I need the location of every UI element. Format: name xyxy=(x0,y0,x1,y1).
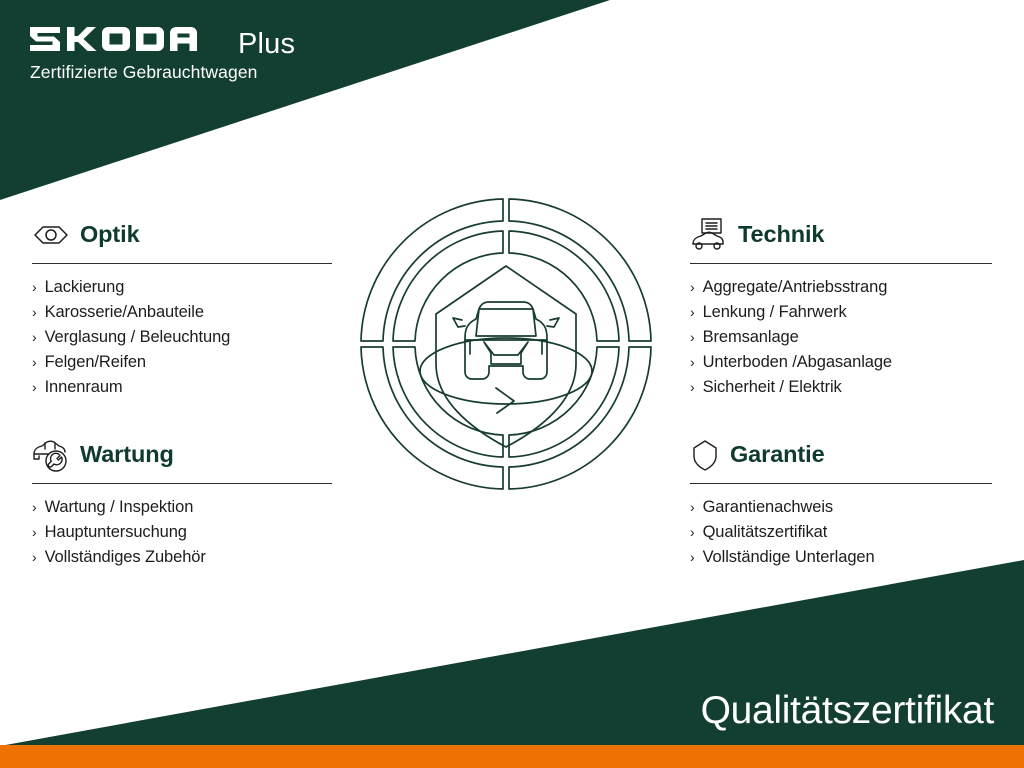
list-item: ›Vollständiges Zubehör xyxy=(32,545,344,570)
brand-subtitle: Zertifizierte Gebrauchtwagen xyxy=(30,63,295,82)
chevron-right-icon: › xyxy=(690,350,695,375)
section-list: ›Lackierung ›Karosserie/Anbauteile ›Verg… xyxy=(32,275,344,400)
eye-icon xyxy=(32,218,70,252)
list-item-label: Sicherheit / Elektrik xyxy=(703,375,842,400)
skoda-wordmark-icon xyxy=(30,24,227,54)
list-item-label: Wartung / Inspektion xyxy=(45,495,194,520)
list-item: ›Innenraum xyxy=(32,375,344,400)
section-title: Technik xyxy=(738,223,824,247)
list-item: ›Bremsanlage xyxy=(690,325,1002,350)
chevron-right-icon: › xyxy=(32,495,37,520)
chevron-right-icon: › xyxy=(690,325,695,350)
list-item-label: Unterboden /Abgasanlage xyxy=(703,350,892,375)
list-item-label: Qualitätszertifikat xyxy=(703,520,828,545)
section-list: ›Wartung / Inspektion ›Hauptuntersuchung… xyxy=(32,495,344,570)
section-list: ›Aggregate/Antriebsstrang ›Lenkung / Fah… xyxy=(690,275,1002,400)
list-item-label: Hauptuntersuchung xyxy=(45,520,187,545)
chevron-right-icon: › xyxy=(32,520,37,545)
shield-car-rings-icon xyxy=(358,196,654,492)
list-item-label: Verglasung / Beleuchtung xyxy=(45,325,231,350)
chevron-right-icon: › xyxy=(690,275,695,300)
section-header: Wartung xyxy=(32,434,344,476)
chevron-right-icon: › xyxy=(32,325,37,350)
chevron-right-icon: › xyxy=(690,520,695,545)
list-item-label: Garantienachweis xyxy=(703,495,833,520)
list-item: ›Garantienachweis xyxy=(690,495,1002,520)
list-item: ›Qualitätszertifikat xyxy=(690,520,1002,545)
chevron-right-icon: › xyxy=(690,495,695,520)
section-divider xyxy=(32,263,332,264)
shield-icon xyxy=(690,438,720,472)
car-wrench-icon xyxy=(32,438,70,472)
chevron-right-icon: › xyxy=(32,350,37,375)
list-item: ›Lenkung / Fahrwerk xyxy=(690,300,1002,325)
section-divider xyxy=(32,483,332,484)
chevron-right-icon: › xyxy=(690,375,695,400)
list-item-label: Vollständige Unterlagen xyxy=(703,545,875,570)
section-divider xyxy=(690,263,992,264)
orange-accent-bar xyxy=(0,745,1024,768)
section-title: Wartung xyxy=(80,443,174,467)
list-item: ›Vollständige Unterlagen xyxy=(690,545,1002,570)
section-list: ›Garantienachweis ›Qualitätszertifikat ›… xyxy=(690,495,1002,570)
section-optik: Optik ›Lackierung ›Karosserie/Anbauteile… xyxy=(32,214,344,400)
section-garantie: Garantie ›Garantienachweis ›Qualitätszer… xyxy=(690,434,1002,570)
list-item-label: Bremsanlage xyxy=(703,325,799,350)
list-item: ›Unterboden /Abgasanlage xyxy=(690,350,1002,375)
car-document-icon xyxy=(690,218,728,252)
footer-title: Qualitätszertifikat xyxy=(701,691,994,730)
section-header: Technik xyxy=(690,214,1002,256)
list-item-label: Lackierung xyxy=(45,275,125,300)
chevron-right-icon: › xyxy=(32,300,37,325)
list-item: ›Hauptuntersuchung xyxy=(32,520,344,545)
list-item: ›Lackierung xyxy=(32,275,344,300)
brand-row: Plus xyxy=(30,24,295,58)
chevron-right-icon: › xyxy=(690,300,695,325)
list-item-label: Lenkung / Fahrwerk xyxy=(703,300,847,325)
certificate-page: Plus Zertifizierte Gebrauchtwagen xyxy=(0,0,1024,768)
section-technik: Technik ›Aggregate/Antriebsstrang ›Lenku… xyxy=(690,214,1002,400)
list-item-label: Felgen/Reifen xyxy=(45,350,146,375)
brand-suffix: Plus xyxy=(238,30,295,59)
chevron-right-icon: › xyxy=(32,545,37,570)
section-divider xyxy=(690,483,992,484)
list-item: ›Felgen/Reifen xyxy=(32,350,344,375)
list-item-label: Innenraum xyxy=(45,375,123,400)
list-item: ›Sicherheit / Elektrik xyxy=(690,375,1002,400)
list-item: ›Wartung / Inspektion xyxy=(32,495,344,520)
section-title: Garantie xyxy=(730,443,825,467)
list-item-label: Karosserie/Anbauteile xyxy=(45,300,204,325)
list-item: ›Aggregate/Antriebsstrang xyxy=(690,275,1002,300)
chevron-right-icon: › xyxy=(32,275,37,300)
section-header: Garantie xyxy=(690,434,1002,476)
section-wartung: Wartung ›Wartung / Inspektion ›Hauptunte… xyxy=(32,434,344,570)
list-item-label: Vollständiges Zubehör xyxy=(45,545,206,570)
chevron-right-icon: › xyxy=(690,545,695,570)
section-title: Optik xyxy=(80,223,140,247)
brand-block: Plus Zertifizierte Gebrauchtwagen xyxy=(30,24,295,82)
list-item: ›Karosserie/Anbauteile xyxy=(32,300,344,325)
list-item: ›Verglasung / Beleuchtung xyxy=(32,325,344,350)
list-item-label: Aggregate/Antriebsstrang xyxy=(703,275,888,300)
chevron-right-icon: › xyxy=(32,375,37,400)
section-header: Optik xyxy=(32,214,344,256)
